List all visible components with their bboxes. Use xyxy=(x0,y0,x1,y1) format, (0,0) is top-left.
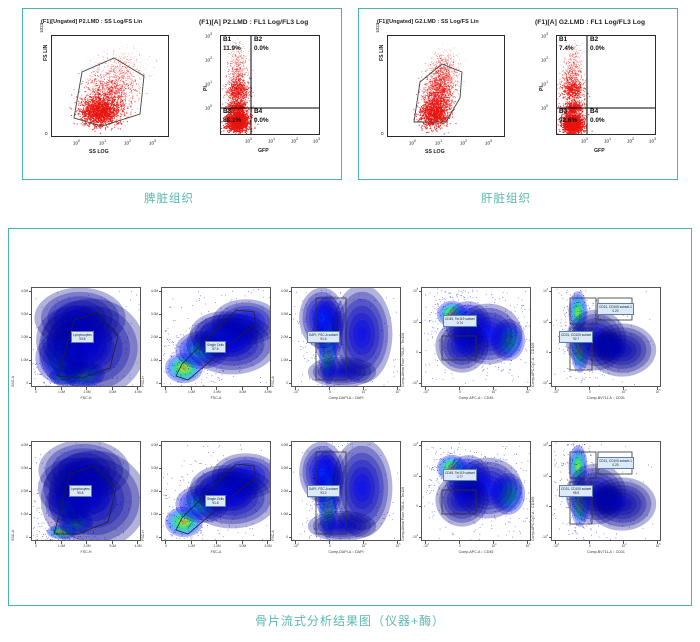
plot-frame xyxy=(421,287,531,387)
spleen-quad-B4-id: B4 xyxy=(254,108,262,115)
x-axis-label: Comp-APC-A :: CD45 xyxy=(421,396,531,400)
spleen-scatter-xlabel: SS LOG xyxy=(89,149,109,155)
liver-quad-xtick-1: 101 xyxy=(604,137,611,144)
x-tick-label: 3.0M xyxy=(107,544,119,548)
x-tick-label: 105 xyxy=(522,544,534,548)
spleen-quad-ytick-0: 100 xyxy=(205,104,212,111)
y-tick-label: 1.0M xyxy=(15,512,28,516)
x-tick-label: 0 xyxy=(454,390,466,394)
gate-label-text: CD31, CD105 subset-1 xyxy=(599,459,632,463)
y-tick xyxy=(289,291,292,292)
liver-quad-B3-value: 92.6% xyxy=(559,117,577,124)
caption-spleen: 脾脏组织 xyxy=(144,190,194,206)
spleen-quad-xtick-2: 102 xyxy=(291,137,298,144)
y-tick-label: 4.0M xyxy=(145,443,158,447)
spleen-scatter-xtick-2: 102 xyxy=(124,139,131,146)
y-tick xyxy=(159,314,162,315)
y-tick xyxy=(29,337,32,338)
y-tick xyxy=(419,476,422,477)
y-tick-label: -104 xyxy=(405,535,418,539)
gate-label-text: CD45, Ter119 subset xyxy=(445,317,475,321)
gate-label-value: 0.20 xyxy=(599,463,632,468)
y-tick-label: 4.0M xyxy=(15,289,28,293)
x-tick-label: 0 xyxy=(160,390,172,394)
x-tick-label: 104 xyxy=(618,390,630,394)
x-tick-label: -103 xyxy=(420,544,432,548)
bottom-plot-r1-c4: CD45, Ter119 subset0.74-1030104105-10401… xyxy=(421,287,531,387)
spleen-quad-xtick-1: 101 xyxy=(268,137,275,144)
y-tick xyxy=(289,468,292,469)
gate-label: CD31, CD105 subset92.7 xyxy=(559,331,593,343)
bottom-plot-r1-c3: DAPI, FSC-A subset91.6-103010310501.0M2.… xyxy=(291,287,401,387)
liver-scatter-ylabel: FS LIN xyxy=(379,45,385,61)
y-tick-label: 105 xyxy=(405,289,418,293)
y-tick-label: -104 xyxy=(535,535,548,539)
y-tick xyxy=(159,514,162,515)
y-tick xyxy=(159,383,162,384)
y-tick xyxy=(159,337,162,338)
y-tick-label: 3.0M xyxy=(15,466,28,470)
gate-label: CD31, CD105 subset-10.20 xyxy=(597,457,634,469)
gate-label-value: 0.74 xyxy=(445,321,475,326)
spleen-quad-B4-value: 0.0% xyxy=(254,117,269,124)
gate-label: CD31, CD105 subset-10.20 xyxy=(597,303,634,315)
x-axis-label: FSC-H xyxy=(31,396,141,400)
y-tick-label: 4.0M xyxy=(275,443,288,447)
y-axis-label: FSC-H xyxy=(141,530,145,541)
figure-page: (F1)[Ungated] P2.LMD : SS Log/FS Lin FS … xyxy=(0,0,700,642)
spleen-quad-B1-value: 11.9% xyxy=(223,45,241,52)
y-tick-label: 0 xyxy=(15,535,28,539)
gate-label-value: 0.77 xyxy=(445,475,475,480)
y-tick-label: 2.0M xyxy=(275,335,288,339)
y-axis-label: FSC-H xyxy=(141,376,145,387)
y-tick-label: 2.0M xyxy=(145,335,158,339)
liver-quad-ylabel: PI xyxy=(539,86,545,91)
y-tick xyxy=(159,491,162,492)
plot-frame xyxy=(161,441,271,541)
x-tick-label: 0 xyxy=(454,544,466,548)
spleen-scatter-canvas xyxy=(52,36,169,137)
y-tick-label: 0 xyxy=(535,504,548,508)
y-tick xyxy=(549,291,552,292)
gate-label: CD31, CD105 subset95.9 xyxy=(559,485,593,497)
y-tick-label: 1.0M xyxy=(275,358,288,362)
x-tick-label: 103 xyxy=(358,390,370,394)
y-tick-label: 0 xyxy=(405,350,418,354)
y-tick xyxy=(289,360,292,361)
y-tick xyxy=(29,360,32,361)
y-tick xyxy=(29,537,32,538)
y-tick xyxy=(29,383,32,384)
x-axis-label: Comp-APC-A :: CD45 xyxy=(421,550,531,554)
spleen-scatter-ytop: 1023 xyxy=(39,23,44,33)
gate-label-value: 91.6 xyxy=(309,337,338,342)
liver-scatter-xlabel: SS LOG xyxy=(425,149,445,155)
spleen-quad-B3: B3 88.1% xyxy=(223,108,241,125)
spleen-quad-B3-id: B3 xyxy=(223,108,231,115)
spleen-quad-B2-id: B2 xyxy=(254,36,262,43)
plot-canvas xyxy=(422,288,531,387)
liver-scatter-xtick-0: 100 xyxy=(409,139,416,146)
y-tick-label: 105 xyxy=(405,443,418,447)
y-tick xyxy=(549,383,552,384)
liver-quad-title: (F1)[A] G2.LMD : FL1 Log/FL3 Log xyxy=(535,19,645,26)
x-tick-label: 0 xyxy=(584,544,596,548)
y-tick xyxy=(419,383,422,384)
y-tick-label: 2.0M xyxy=(145,489,158,493)
gate-label-value: 0.20 xyxy=(599,309,632,314)
spleen-quad-xtick-3: 103 xyxy=(313,137,320,144)
bottom-panel-box: Lymphocytes93.801.0M2.0M3.0M4.0M01.0M2.0… xyxy=(8,228,692,606)
gate-label-text: Lymphocytes xyxy=(71,487,90,491)
plot-canvas xyxy=(162,288,271,387)
y-tick xyxy=(29,445,32,446)
liver-quad-B1: B1 7.4% xyxy=(559,36,574,53)
plot-frame xyxy=(421,441,531,541)
liver-scatter-ytop: 1023 xyxy=(375,23,380,33)
spleen-scatter-xtick-1: 101 xyxy=(99,139,106,146)
liver-scatter-xtick-2: 102 xyxy=(460,139,467,146)
y-tick xyxy=(419,506,422,507)
spleen-scatter-xtick-3: 103 xyxy=(149,139,156,146)
x-tick-label: 4.0M xyxy=(262,390,274,394)
liver-quad-B4-id: B4 xyxy=(590,108,598,115)
y-tick-label: 2.0M xyxy=(275,489,288,493)
liver-quad-B3-id: B3 xyxy=(559,108,567,115)
gate-label-text: Lymphocytes xyxy=(73,333,92,337)
x-tick-label: 4.0M xyxy=(132,544,144,548)
liver-quad-B2-id: B2 xyxy=(590,36,598,43)
y-tick-label: 104 xyxy=(535,320,548,324)
bottom-plot-r1-c2: Single Cells87.601.0M2.0M3.0M4.0M01.0M2.… xyxy=(161,287,271,387)
spleen-quad-xtick-0: 100 xyxy=(245,137,252,144)
x-axis-label: Comp-BV711-A :: CD31 xyxy=(551,550,661,554)
liver-quad-ytick-2: 102 xyxy=(541,56,548,63)
x-tick-label: 0 xyxy=(324,390,336,394)
y-tick xyxy=(289,337,292,338)
x-tick-label: 2.0M xyxy=(211,544,223,548)
y-tick-label: 2.0M xyxy=(15,489,28,493)
x-tick-label: 103 xyxy=(358,544,370,548)
bottom-plot-r1-c5: CD31, CD105 subset-10.20CD31, CD105 subs… xyxy=(551,287,661,387)
y-tick-label: 0 xyxy=(275,381,288,385)
y-tick-label: -104 xyxy=(405,381,418,385)
x-tick-label: 4.0M xyxy=(262,544,274,548)
y-tick-label: 1.0M xyxy=(145,512,158,516)
x-tick-label: 0 xyxy=(160,544,172,548)
plot-frame xyxy=(161,287,271,387)
y-tick xyxy=(549,352,552,353)
gate-label: CD45, Ter119 subset0.74 xyxy=(443,315,477,327)
liver-quad-B1-id: B1 xyxy=(559,36,567,43)
gate-label-value: 93.8 xyxy=(73,337,92,342)
y-tick xyxy=(159,537,162,538)
caption-liver: 肝脏组织 xyxy=(481,190,531,206)
spleen-scatter-plot xyxy=(51,35,169,137)
y-tick xyxy=(159,445,162,446)
liver-scatter-xtick-3: 103 xyxy=(485,139,492,146)
liver-scatter-title: (F1)[Ungated] G2.LMD : SS Log/FS Lin xyxy=(377,19,479,25)
x-tick-label: 4.0M xyxy=(132,390,144,394)
spleen-quad-B1-id: B1 xyxy=(223,36,231,43)
liver-quad-xtick-2: 102 xyxy=(627,137,634,144)
y-tick-label: 0 xyxy=(145,381,158,385)
liver-quad-xtick-3: 103 xyxy=(649,137,656,144)
y-tick-label: -104 xyxy=(535,381,548,385)
top-section: (F1)[Ungated] P2.LMD : SS Log/FS Lin FS … xyxy=(0,0,700,215)
liver-quad-ytick-0: 100 xyxy=(541,104,548,111)
y-tick-label: 0 xyxy=(275,535,288,539)
x-axis-label: FSC-A xyxy=(161,550,271,554)
y-axis-label: SSC-A xyxy=(11,530,15,541)
x-tick-label: -103 xyxy=(290,544,302,548)
gate-label-value: 95.9 xyxy=(561,491,591,496)
bottom-plot-r2-c4: CD45, Ter119 subset0.77-1030104105-10401… xyxy=(421,441,531,541)
y-tick-label: 0 xyxy=(15,381,28,385)
spleen-scatter-title: (F1)[Ungated] P2.LMD : SS Log/FS Lin xyxy=(41,19,142,25)
x-tick-label: -103 xyxy=(550,390,562,394)
spleen-scatter-ybottom: 0 xyxy=(45,131,48,136)
y-tick xyxy=(289,537,292,538)
y-tick-label: 105 xyxy=(535,289,548,293)
y-tick xyxy=(419,291,422,292)
y-tick-label: 3.0M xyxy=(145,466,158,470)
y-tick xyxy=(29,514,32,515)
y-tick xyxy=(549,537,552,538)
gate-label-value: 92.7 xyxy=(561,337,591,342)
x-tick-label: 0 xyxy=(584,390,596,394)
spleen-scatter-ylabel: FS LIN xyxy=(43,45,49,61)
y-tick xyxy=(29,468,32,469)
y-tick xyxy=(159,468,162,469)
x-tick-label: 2.0M xyxy=(211,390,223,394)
y-axis-label: Comp-Alexa Fluor 700-A :: Ter119 xyxy=(401,333,405,387)
liver-quad-B4-value: 0.0% xyxy=(590,117,605,124)
y-tick xyxy=(289,314,292,315)
gate-label-value: 93.2 xyxy=(309,491,338,496)
x-tick-label: 104 xyxy=(488,390,500,394)
x-axis-label: FSC-H xyxy=(31,550,141,554)
liver-quad-ytick-3: 103 xyxy=(541,32,548,39)
y-tick-label: 4.0M xyxy=(15,443,28,447)
x-tick-label: -103 xyxy=(550,544,562,548)
liver-scatter-xtick-1: 101 xyxy=(435,139,442,146)
x-tick-label: 3.0M xyxy=(237,390,249,394)
y-tick-label: 0 xyxy=(145,535,158,539)
spleen-quad-B3-value: 88.1% xyxy=(223,117,241,124)
y-tick xyxy=(419,352,422,353)
liver-quad-xlabel: GFP xyxy=(594,148,605,154)
y-tick-label: 1.0M xyxy=(275,512,288,516)
y-tick xyxy=(289,514,292,515)
y-tick xyxy=(289,445,292,446)
y-axis-label: Comp-APC-Cy7-A :: CD105 xyxy=(531,343,535,387)
y-tick xyxy=(159,291,162,292)
y-tick xyxy=(549,445,552,446)
gate-label: Single Cells87.6 xyxy=(205,341,226,353)
gate-label-text: CD31, CD105 subset xyxy=(561,333,591,337)
spleen-quad-title: (F1)[A] P2.LMD : FL1 Log/FL3 Log xyxy=(199,19,308,26)
x-tick-label: 105 xyxy=(652,544,664,548)
spleen-quad-B4: B4 0.0% xyxy=(254,108,269,125)
x-axis-label: FSC-A xyxy=(161,396,271,400)
liver-quad-B4: B4 0.0% xyxy=(590,108,605,125)
gate-label-text: CD45, Ter119 subset xyxy=(445,471,475,475)
gate-label-text: DAPI, FSC-A subset xyxy=(309,487,338,491)
gate-label-value: 91.8 xyxy=(207,501,224,506)
x-tick-label: 104 xyxy=(488,544,500,548)
y-tick-label: 4.0M xyxy=(145,289,158,293)
y-tick xyxy=(29,291,32,292)
x-axis-label: Comp-DAPI-A :: DAPI xyxy=(291,396,401,400)
x-axis-label: Comp-DAPI-A :: DAPI xyxy=(291,550,401,554)
caption-bottom: 骨片流式分析结果图（仪器+酶） xyxy=(0,612,700,629)
x-tick-label: 2.0M xyxy=(81,390,93,394)
y-tick xyxy=(289,383,292,384)
y-axis-label: Comp-APC-Cy7-A :: CD105 xyxy=(531,497,535,541)
y-axis-label: FSC-A xyxy=(271,530,275,541)
x-tick-label: 2.0M xyxy=(81,544,93,548)
spleen-quad-B1: B1 11.9% xyxy=(223,36,241,53)
y-tick xyxy=(549,476,552,477)
bottom-plot-r2-c1: Lymphocytes90.801.0M2.0M3.0M4.0M01.0M2.0… xyxy=(31,441,141,541)
x-tick-label: 105 xyxy=(652,390,664,394)
liver-scatter-plot xyxy=(387,35,505,137)
x-tick-label: -103 xyxy=(420,390,432,394)
gate-label-text: CD31, CD105 subset xyxy=(561,487,591,491)
y-tick xyxy=(159,360,162,361)
y-tick-label: 1.0M xyxy=(145,358,158,362)
gate-label-text: Single Cells xyxy=(207,343,224,347)
bottom-plot-r2-c5: CD31, CD105 subset-10.20CD31, CD105 subs… xyxy=(551,441,661,541)
gate-label: DAPI, FSC-A subset91.6 xyxy=(307,331,340,343)
y-tick-label: 105 xyxy=(535,443,548,447)
gate-label: CD45, Ter119 subset0.77 xyxy=(443,469,477,481)
y-tick-label: 1.0M xyxy=(15,358,28,362)
y-tick xyxy=(289,491,292,492)
x-tick-label: 0 xyxy=(324,544,336,548)
x-tick-label: 1.0M xyxy=(56,544,68,548)
y-tick-label: 2.0M xyxy=(15,335,28,339)
liver-quad-xtick-0: 100 xyxy=(581,137,588,144)
liver-scatter-canvas xyxy=(388,36,505,137)
x-tick-label: 1.0M xyxy=(186,544,198,548)
gate-label-text: CD31, CD105 subset-1 xyxy=(599,305,632,309)
spleen-quad-B2: B2 0.0% xyxy=(254,36,269,53)
bottom-plot-r2-c3: DAPI, FSC-A subset93.2-103010310501.0M2.… xyxy=(291,441,401,541)
y-tick xyxy=(29,491,32,492)
liver-quad-B1-value: 7.4% xyxy=(559,45,574,52)
y-tick-label: 104 xyxy=(535,474,548,478)
y-tick xyxy=(29,314,32,315)
spleen-quad-xlabel: GFP xyxy=(258,148,269,154)
x-tick-label: 1.0M xyxy=(56,390,68,394)
y-tick-label: 0 xyxy=(405,504,418,508)
gate-label-text: Single Cells xyxy=(207,497,224,501)
y-tick xyxy=(549,506,552,507)
gate-label-value: 90.8 xyxy=(71,491,90,496)
plot-canvas xyxy=(422,442,531,541)
y-tick-label: 3.0M xyxy=(275,312,288,316)
y-tick-label: 104 xyxy=(405,320,418,324)
panel-liver: (F1)[Ungated] G2.LMD : SS Log/FS Lin FS … xyxy=(358,8,678,180)
y-axis-label: FSC-A xyxy=(271,376,275,387)
gate-label: Lymphocytes93.8 xyxy=(71,331,94,343)
liver-scatter-ybottom: 0 xyxy=(381,131,384,136)
liver-quad-B2: B2 0.0% xyxy=(590,36,605,53)
bottom-plot-r2-c2: Single Cells91.801.0M2.0M3.0M4.0M01.0M2.… xyxy=(161,441,271,541)
gate-label-value: 87.6 xyxy=(207,347,224,352)
y-tick xyxy=(419,322,422,323)
x-tick-label: 104 xyxy=(618,544,630,548)
y-axis-label: Comp-Alexa Fluor 700-A :: Ter119 xyxy=(401,487,405,541)
spleen-quad-ylabel: PI xyxy=(203,86,209,91)
gate-label: Single Cells91.8 xyxy=(205,495,226,507)
spleen-scatter-xtick-0: 100 xyxy=(73,139,80,146)
liver-quad-B3: B3 92.6% xyxy=(559,108,577,125)
y-tick xyxy=(549,322,552,323)
x-tick-label: 105 xyxy=(392,544,404,548)
y-tick-label: 3.0M xyxy=(275,466,288,470)
gate-label: DAPI, FSC-A subset93.2 xyxy=(307,485,340,497)
x-tick-label: 105 xyxy=(522,390,534,394)
plot-canvas xyxy=(162,442,271,541)
y-tick-label: 3.0M xyxy=(15,312,28,316)
y-tick-label: 104 xyxy=(405,474,418,478)
x-tick-label: 3.0M xyxy=(237,544,249,548)
x-tick-label: 0 xyxy=(30,544,42,548)
spleen-quad-ytick-3: 103 xyxy=(205,32,212,39)
spleen-quad-ytick-2: 102 xyxy=(205,56,212,63)
panel-spleen: (F1)[Ungated] P2.LMD : SS Log/FS Lin FS … xyxy=(22,8,342,180)
x-tick-label: -103 xyxy=(290,390,302,394)
x-tick-label: 1.0M xyxy=(186,390,198,394)
gate-label-text: DAPI, FSC-A subset xyxy=(309,333,338,337)
y-tick xyxy=(419,445,422,446)
y-tick-label: 4.0M xyxy=(275,289,288,293)
x-tick-label: 3.0M xyxy=(107,390,119,394)
x-tick-label: 0 xyxy=(30,390,42,394)
bottom-plot-r1-c1: Lymphocytes93.801.0M2.0M3.0M4.0M01.0M2.0… xyxy=(31,287,141,387)
spleen-quad-B2-value: 0.0% xyxy=(254,45,269,52)
y-axis-label: SSC-A xyxy=(11,376,15,387)
y-tick-label: 3.0M xyxy=(145,312,158,316)
x-axis-label: Comp-BV711-A :: CD31 xyxy=(551,396,661,400)
x-tick-label: 105 xyxy=(392,390,404,394)
gate-label: Lymphocytes90.8 xyxy=(69,485,92,497)
liver-quad-B2-value: 0.0% xyxy=(590,45,605,52)
y-tick-label: 0 xyxy=(535,350,548,354)
y-tick xyxy=(419,537,422,538)
